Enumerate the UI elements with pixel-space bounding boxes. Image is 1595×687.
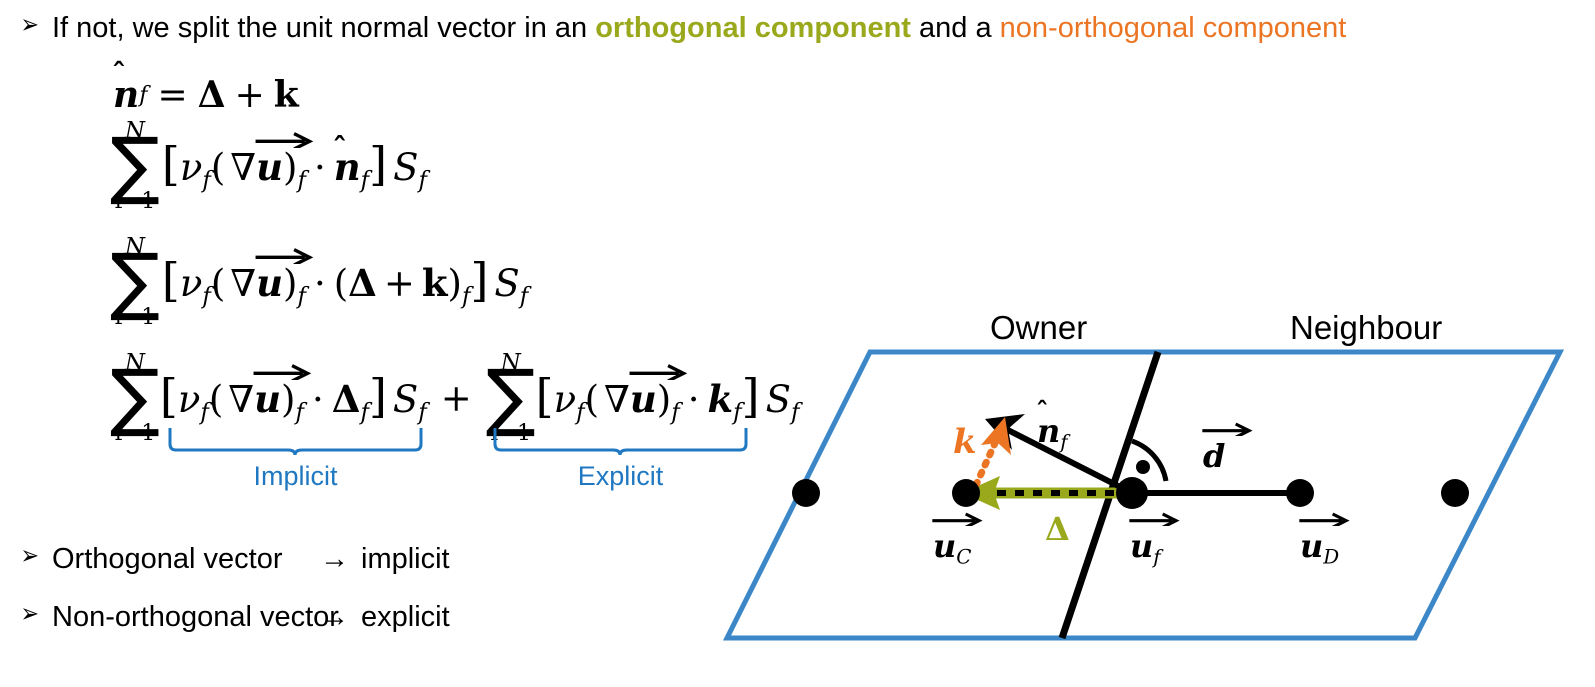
dot-product: · — [306, 262, 334, 305]
area-symbol: S — [387, 378, 418, 421]
implicit-underbrace — [168, 424, 423, 456]
unit-normal-subscript: f — [139, 82, 147, 108]
grad-subscript: f — [671, 399, 680, 425]
lparen-2: ( — [334, 262, 348, 305]
rparen: ) — [281, 378, 295, 421]
area-symbol: S — [488, 262, 519, 305]
plus-sign: + — [226, 75, 274, 116]
sum-lower-limit: f=1 — [115, 191, 156, 213]
mesh-diagram-svg — [700, 295, 1595, 682]
sum-lower-limit: f=1 — [115, 423, 156, 445]
conclusion-result-1: explicit — [349, 601, 450, 633]
delta-symbol: Δ — [348, 261, 377, 305]
sum-lower-limit: f=1 — [115, 307, 156, 329]
grad-subscript: f — [297, 283, 306, 309]
dot-product: · — [304, 378, 332, 421]
nu-symbol: ν — [554, 378, 577, 421]
intro-part-orthogonal: orthogonal component — [595, 12, 911, 44]
open-bracket: [ — [162, 137, 180, 191]
conclusion-result-0: implicit — [349, 543, 450, 575]
rparen: ) — [283, 262, 297, 305]
equation-1-body: [νf(∇u)f·̂nf]Sf — [162, 141, 427, 193]
close-bracket: ] — [369, 137, 387, 191]
velocity-vector: u — [254, 381, 281, 418]
node-owner-left — [792, 479, 820, 507]
nu-subscript: f — [576, 399, 585, 425]
right-angle-arc — [1132, 441, 1166, 481]
conclusion-term-1: Non-orthogonal vector — [52, 601, 320, 634]
unit-normal-symbol-1: ̂n — [334, 149, 361, 186]
equals-sign: = — [147, 75, 197, 116]
rparen: ) — [657, 378, 671, 421]
node-neighbour-right — [1441, 479, 1469, 507]
delta-symbol: Δ — [332, 377, 361, 421]
nu-subscript: f — [200, 399, 209, 425]
nu-subscript: f — [202, 283, 211, 309]
velocity-vector: u — [256, 265, 283, 302]
conclusion-bullet-1: ➢ Non-orthogonal vector→explicit — [18, 601, 450, 634]
velocity-vector: u — [630, 381, 657, 418]
u-f-label: uf — [1130, 527, 1161, 569]
summation-implicit: N ∑ f=1 — [110, 352, 160, 445]
grad-subscript: f — [295, 399, 304, 425]
delta-subscript: f — [360, 399, 369, 425]
conclusion-term-0: Orthogonal vector — [52, 543, 320, 576]
close-bracket: ] — [470, 253, 488, 307]
node-face-centre-f — [1116, 477, 1148, 509]
arrow-icon-0: → — [320, 543, 349, 575]
open-bracket: [ — [162, 253, 180, 307]
dot-product: · — [306, 146, 334, 189]
area-subscript: f — [520, 283, 529, 309]
bullet-arrow-icon: ➢ — [21, 543, 50, 569]
nabla-symbol: ∇ — [599, 378, 630, 421]
intro-part-1: If not, we split the unit normal vector … — [52, 12, 595, 44]
bullet-arrow-icon: ➢ — [21, 12, 50, 38]
mesh-diagram: Owner Neighbour k ̂nf d Δ uC uf uD — [700, 295, 1595, 682]
open-bracket: [ — [536, 369, 554, 423]
intro-bullet-text: If not, we split the unit normal vector … — [52, 12, 1346, 45]
velocity-vector: u — [256, 149, 283, 186]
k-symbol: k — [422, 261, 448, 305]
area-subscript: f — [418, 399, 427, 425]
equation-decomposition: ̂nf = Δ + k — [113, 74, 299, 116]
intro-part-non-orthogonal: non-orthogonal component — [1000, 12, 1347, 44]
nu-symbol: ν — [178, 378, 201, 421]
nabla-symbol: ∇ — [225, 146, 256, 189]
sigma-glyph: ∑ — [110, 137, 160, 195]
lparen: ( — [211, 146, 225, 189]
rparen: ) — [283, 146, 297, 189]
equation-line-1: N ∑ f=1 [νf(∇u)f·̂nf]Sf — [110, 120, 427, 213]
plus-sign: + — [377, 262, 422, 305]
sigma-glyph: ∑ — [110, 253, 160, 311]
line3-operator: + — [427, 380, 486, 417]
u-c-label: uC — [933, 527, 971, 569]
lparen: ( — [209, 378, 223, 421]
node-cell-centre-D — [1286, 479, 1314, 507]
n-face-vector-label: ̂nf — [1037, 412, 1068, 454]
area-subscript: f — [418, 167, 427, 193]
area-symbol: S — [387, 146, 418, 189]
sigma-glyph: ∑ — [486, 369, 536, 427]
bullet-arrow-icon: ➢ — [21, 601, 50, 627]
lparen: ( — [585, 378, 599, 421]
k-symbol: k — [274, 74, 299, 116]
intro-bullet: ➢ If not, we split the unit normal vecto… — [18, 12, 1346, 45]
delta-symbol: Δ — [198, 74, 226, 116]
implicit-term-body: [νf(∇u)f·Δf]Sf — [160, 373, 427, 425]
nabla-symbol: ∇ — [225, 262, 256, 305]
intro-part-3: and a — [911, 12, 1000, 44]
rparen-2: ) — [448, 262, 462, 305]
neighbour-label: Neighbour — [1290, 309, 1442, 347]
owner-label: Owner — [990, 309, 1087, 347]
nu-symbol: ν — [180, 146, 203, 189]
arrow-icon-1: → — [320, 601, 349, 633]
d-vector-label: d — [1203, 437, 1225, 475]
grad-subscript: f — [297, 167, 306, 193]
n-subscript: f — [361, 167, 370, 193]
summation-2: N ∑ f=1 — [110, 236, 160, 329]
open-bracket: [ — [160, 369, 178, 423]
delta-vector-label: Δ — [1045, 510, 1070, 548]
nu-subscript: f — [202, 167, 211, 193]
equation-2-body: [νf(∇u)f·(Δ+k)f]Sf — [162, 257, 528, 309]
right-angle-dot — [1136, 460, 1150, 474]
unit-normal-symbol: ̂n — [113, 74, 139, 116]
summation-1: N ∑ f=1 — [110, 120, 160, 213]
nu-symbol: ν — [180, 262, 203, 305]
implicit-label: Implicit — [168, 461, 423, 492]
node-cell-centre-C — [952, 479, 980, 507]
lparen: ( — [211, 262, 225, 305]
u-d-label: uD — [1300, 527, 1339, 569]
close-bracket: ] — [369, 369, 387, 423]
equation-line-2: N ∑ f=1 [νf(∇u)f·(Δ+k)f]Sf — [110, 236, 528, 329]
sigma-glyph: ∑ — [110, 369, 160, 427]
k-vector-label: k — [953, 422, 977, 462]
conclusion-bullet-0: ➢ Orthogonal vector→implicit — [18, 543, 450, 576]
nabla-symbol: ∇ — [223, 378, 254, 421]
